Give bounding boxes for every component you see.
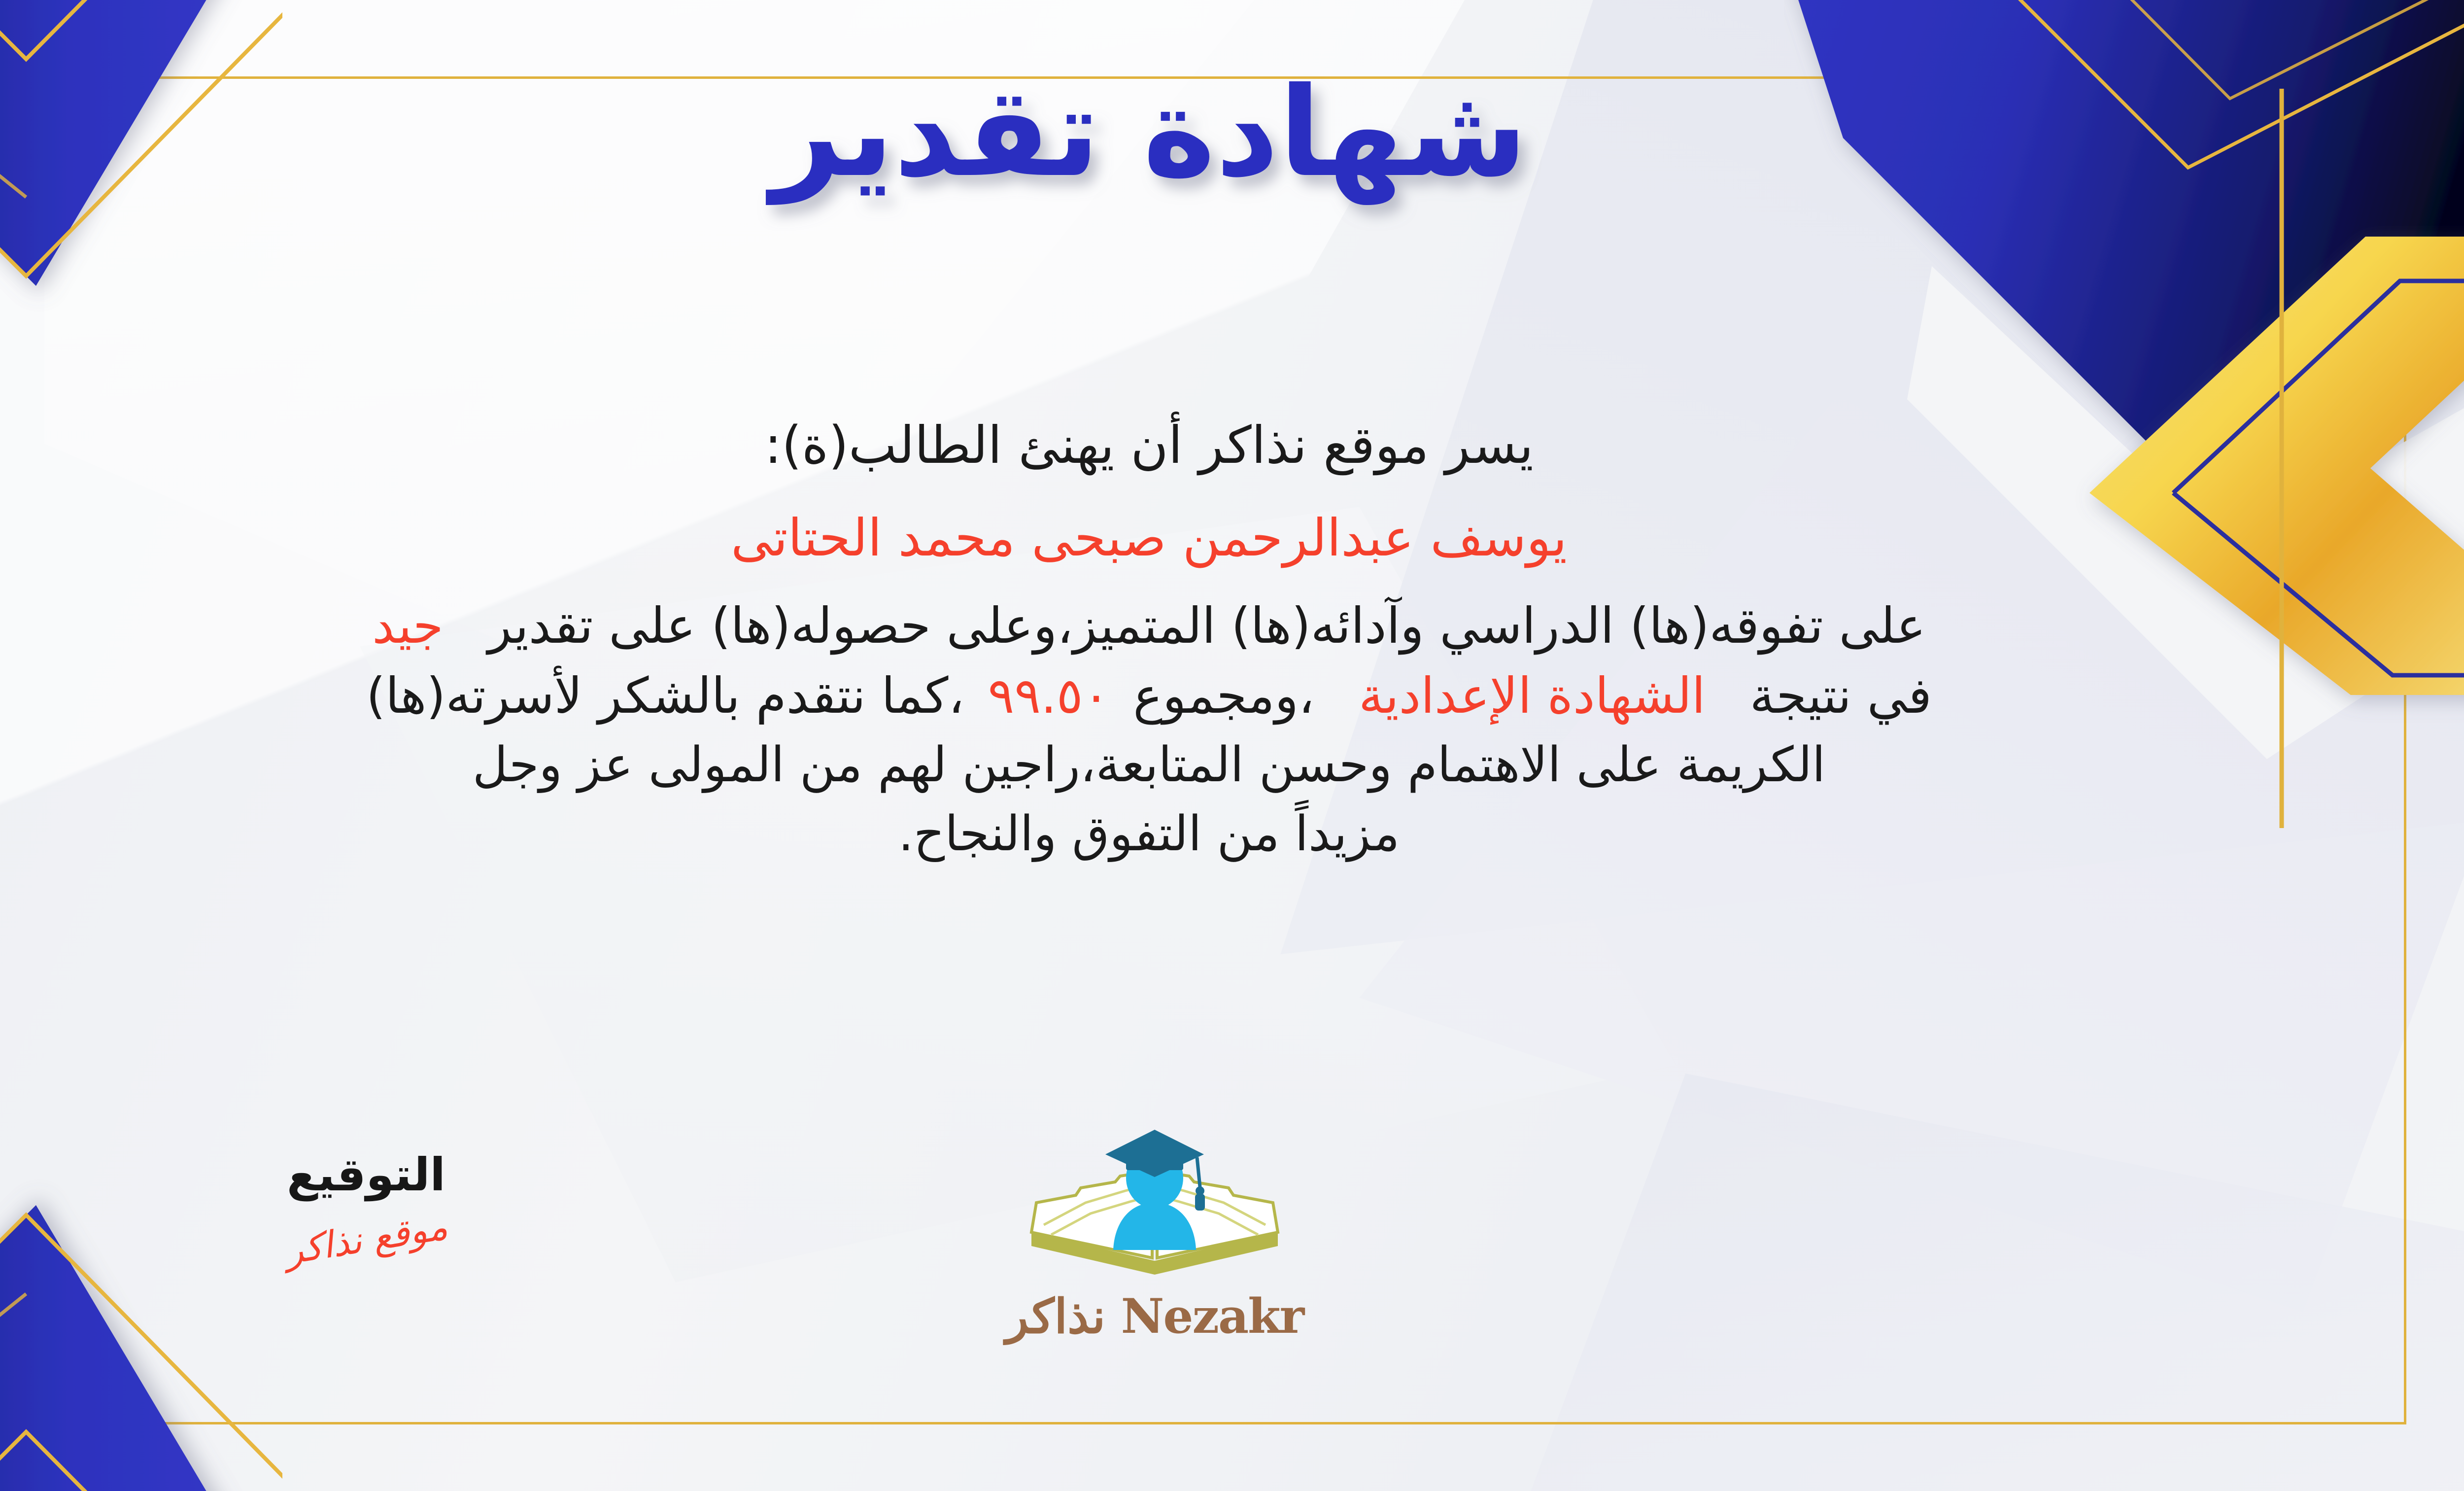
wish-line: مزيداً من التفوق والنجاح. xyxy=(0,800,2365,868)
certificate-title-text: شهادة تقدير xyxy=(765,61,1527,206)
total-value: ٩٩.٥٠ xyxy=(988,667,1110,725)
family-line: الكريمة على الاهتمام وحسن المتابعة،راجين… xyxy=(0,731,2365,799)
brand-logo-block: Nezakr نذاكر xyxy=(953,1129,1357,1344)
certificate-page: شهادة تقدير يسر موقع نذاكر أن يهنئ الطال… xyxy=(0,0,2464,1491)
total-label: ،ومجموع xyxy=(1133,667,1314,725)
signature-block: التوقيع موقع نذاكر xyxy=(208,1148,524,1260)
student-name: يوسف عبدالرحمن صبحى محمد الحتاتى xyxy=(0,502,2365,575)
praise-text: على تفوقه(ها) الدراسي وآدائه(ها) المتميز… xyxy=(488,597,1926,655)
exam-name: الشهادة الإعدادية xyxy=(1359,667,1705,725)
certificate-title: شهادة تقدير xyxy=(755,27,1543,234)
result-line: في نتيجةالشهادة الإعدادية،ومجموع٩٩.٥٠،كم… xyxy=(0,661,2365,731)
brand-wordmark: Nezakr نذاكر xyxy=(953,1288,1357,1344)
signature-label: التوقيع xyxy=(208,1148,524,1201)
graduate-book-icon xyxy=(1017,1129,1293,1291)
certificate-title-wrap: شهادة تقدير xyxy=(0,27,2464,236)
greeting-line: يسر موقع نذاكر أن يهنئ الطالب(ة): xyxy=(0,409,2365,482)
certificate-body: يسر موقع نذاكر أن يهنئ الطالب(ة): يوسف ع… xyxy=(0,409,2365,868)
result-prefix: في نتيجة xyxy=(1750,667,1932,725)
thanks-text: ،كما نتقدم بالشكر لأسرته(ها) xyxy=(366,667,964,725)
grade-value: جيد xyxy=(372,597,443,655)
praise-line: على تفوقه(ها) الدراسي وآدائه(ها) المتميز… xyxy=(0,591,2365,661)
